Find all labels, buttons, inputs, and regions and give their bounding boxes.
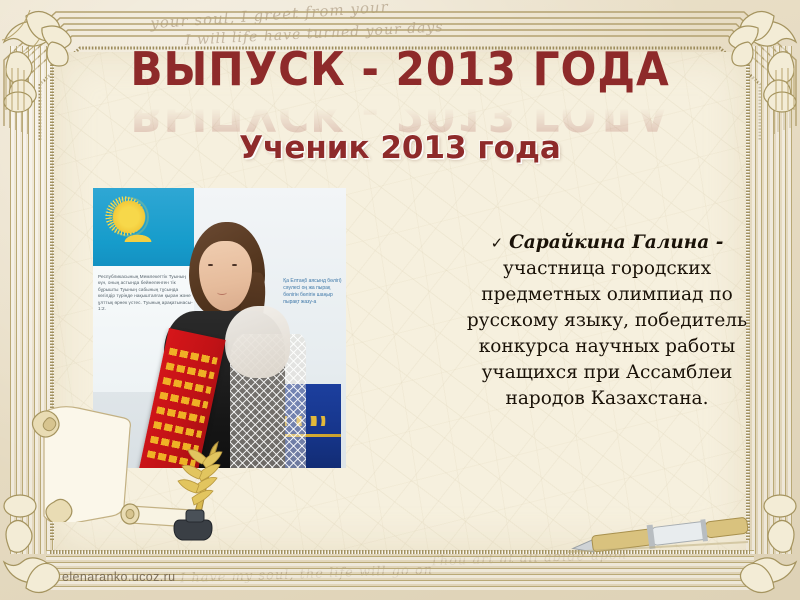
title-block: ВЫПУСК - 2013 ГОДА ВЫПУСК - 2013 ГОДА xyxy=(0,42,800,134)
watermark: elenaranko.ucoz.ru xyxy=(62,570,176,584)
background-script-line: Thou art at all abide upon xyxy=(430,548,628,570)
certificate-slide: your soul, I greet from your I will life… xyxy=(0,0,800,600)
title-reflection: ВЫПУСК - 2013 ГОДА xyxy=(32,94,768,134)
poster-text-left: Республикасының Мемлекеттік Туының күн, … xyxy=(96,272,196,314)
background-script-line: your soul, I greet from your xyxy=(150,0,390,32)
page-title: ВЫПУСК - 2013 ГОДА xyxy=(32,42,768,96)
background-script-line: I have my soul, the life will go on xyxy=(180,563,434,587)
student-name: Сарайкина Галина - xyxy=(509,232,723,253)
frame-rail-bottom xyxy=(50,550,750,554)
photo-lace-collar xyxy=(225,306,291,379)
graduate-photo: Республикасының Мемлекеттік Туының күн, … xyxy=(93,188,346,468)
checkmark-icon: ✓ xyxy=(491,234,504,252)
flag-eagle-icon xyxy=(116,230,160,242)
student-achievements: участница городских предметных олимпиад … xyxy=(467,258,747,409)
subtitle: Ученик 2013 года xyxy=(0,130,800,166)
description-block: ✓ Сарайкина Галина - участница городских… xyxy=(452,230,762,412)
poster-text-right: Қа Елтаңб аясынд бөлігі) сәулесі оң жа п… xyxy=(283,278,344,306)
